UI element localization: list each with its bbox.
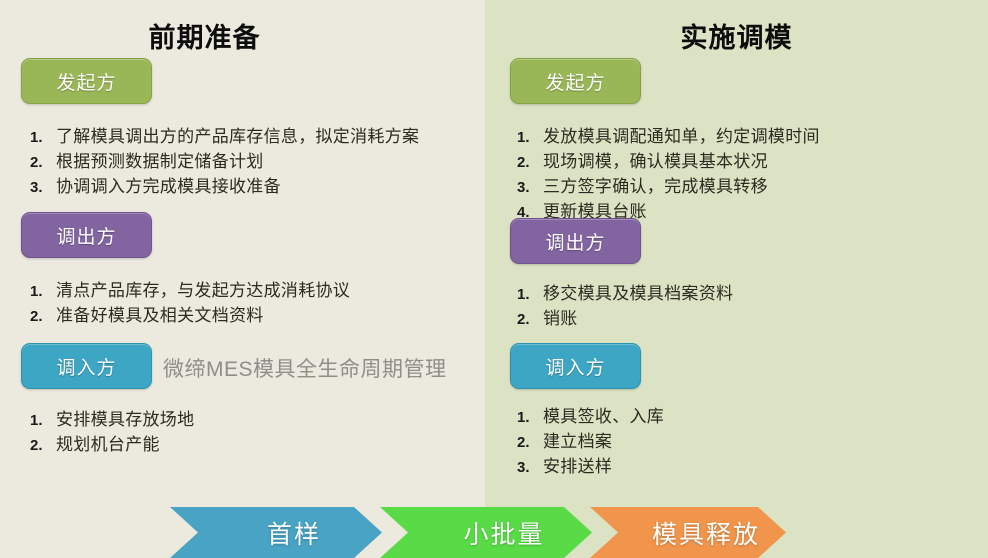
list-marker: 1. — [517, 409, 543, 426]
list-marker: 1. — [517, 129, 543, 146]
slide-canvas: 前期准备 发起方 1. 了解模具调出方的产品库存信息，拟定消耗方案 2. 根据预… — [0, 0, 988, 558]
tag-initiator-left[interactable]: 发起方 — [21, 58, 152, 104]
list-item: 2. 准备好模具及相关文档资料 — [30, 304, 350, 327]
list-marker: 2. — [30, 308, 56, 325]
list-marker: 2. — [30, 154, 56, 171]
list-marker: 3. — [517, 179, 543, 196]
tag-transfer-out-right-label: 调出方 — [545, 228, 605, 255]
chevron-step-first-sample-label: 首样 — [267, 515, 321, 551]
list-preparation-transfer-in: 1. 安排模具存放场地 2. 规划机台产能 — [30, 408, 194, 458]
chevron-step-small-batch[interactable]: 小批量 — [380, 507, 592, 558]
list-marker: 2. — [517, 434, 543, 451]
list-text: 安排送样 — [543, 455, 612, 478]
list-item: 2. 规划机台产能 — [30, 433, 194, 456]
list-marker: 1. — [30, 412, 56, 429]
list-implementation-transfer-out: 1. 移交模具及模具档案资料 2. 销账 — [517, 282, 733, 332]
list-marker: 3. — [517, 459, 543, 476]
list-text: 发放模具调配通知单，约定调模时间 — [543, 125, 820, 148]
list-text: 了解模具调出方的产品库存信息，拟定消耗方案 — [56, 125, 419, 148]
list-item: 1. 移交模具及模具档案资料 — [517, 282, 733, 305]
tag-initiator-right[interactable]: 发起方 — [510, 58, 641, 104]
list-marker: 3. — [30, 179, 56, 196]
list-marker: 1. — [517, 286, 543, 303]
list-text: 销账 — [543, 307, 578, 330]
list-text: 协调调入方完成模具接收准备 — [56, 175, 281, 198]
list-text: 现场调模，确认模具基本状况 — [543, 150, 768, 173]
list-item: 1. 了解模具调出方的产品库存信息，拟定消耗方案 — [30, 125, 419, 148]
chevron-step-first-sample[interactable]: 首样 — [170, 507, 382, 558]
list-item: 1. 安排模具存放场地 — [30, 408, 194, 431]
list-item: 1. 模具签收、入库 — [517, 405, 664, 428]
tag-transfer-out-left-label: 调出方 — [56, 222, 116, 249]
list-text: 规划机台产能 — [56, 433, 160, 456]
column-title-right: 实施调模 — [485, 16, 988, 55]
list-text: 模具签收、入库 — [543, 405, 664, 428]
tag-transfer-in-left[interactable]: 调入方 — [21, 343, 152, 389]
list-preparation-initiator: 1. 了解模具调出方的产品库存信息，拟定消耗方案 2. 根据预测数据制定储备计划… — [30, 125, 419, 200]
list-item: 2. 建立档案 — [517, 430, 664, 453]
list-text: 安排模具存放场地 — [56, 408, 194, 431]
tag-transfer-in-left-label: 调入方 — [56, 353, 116, 380]
chevron-step-small-batch-label: 小批量 — [463, 515, 544, 551]
list-item: 2. 现场调模，确认模具基本状况 — [517, 150, 820, 173]
list-marker: 2. — [30, 437, 56, 454]
list-text: 清点产品库存，与发起方达成消耗协议 — [56, 279, 350, 302]
list-preparation-transfer-out: 1. 清点产品库存，与发起方达成消耗协议 2. 准备好模具及相关文档资料 — [30, 279, 350, 329]
list-item: 1. 清点产品库存，与发起方达成消耗协议 — [30, 279, 350, 302]
tag-initiator-right-label: 发起方 — [545, 68, 605, 95]
process-chevron-strip: 首样 小批量 模具释放 — [0, 500, 988, 558]
chevron-step-mold-release-label: 模具释放 — [652, 515, 760, 551]
list-text: 移交模具及模具档案资料 — [543, 282, 733, 305]
tag-transfer-out-left[interactable]: 调出方 — [21, 212, 152, 258]
list-item: 2. 销账 — [517, 307, 733, 330]
watermark-text: 微缔MES模具全生命周期管理 — [163, 353, 447, 383]
list-text: 建立档案 — [543, 430, 612, 453]
tag-transfer-in-right[interactable]: 调入方 — [510, 343, 641, 389]
column-implementation: 实施调模 发起方 1. 发放模具调配通知单，约定调模时间 2. 现场调模，确认模… — [485, 0, 988, 500]
column-title-left: 前期准备 — [0, 16, 447, 55]
list-text: 三方签字确认，完成模具转移 — [543, 175, 768, 198]
list-text: 根据预测数据制定储备计划 — [56, 150, 264, 173]
list-marker: 1. — [30, 129, 56, 146]
list-marker: 2. — [517, 154, 543, 171]
list-marker: 1. — [30, 283, 56, 300]
tag-initiator-left-label: 发起方 — [56, 68, 116, 95]
list-item: 3. 协调调入方完成模具接收准备 — [30, 175, 419, 198]
list-item: 3. 安排送样 — [517, 455, 664, 478]
list-item: 2. 根据预测数据制定储备计划 — [30, 150, 419, 173]
list-text: 准备好模具及相关文档资料 — [56, 304, 264, 327]
list-implementation-transfer-in: 1. 模具签收、入库 2. 建立档案 3. 安排送样 — [517, 405, 664, 480]
tag-transfer-in-right-label: 调入方 — [545, 353, 605, 380]
list-item: 1. 发放模具调配通知单，约定调模时间 — [517, 125, 820, 148]
list-marker: 2. — [517, 311, 543, 328]
column-preparation: 前期准备 发起方 1. 了解模具调出方的产品库存信息，拟定消耗方案 2. 根据预… — [0, 0, 485, 500]
chevron-step-mold-release[interactable]: 模具释放 — [590, 507, 786, 558]
tag-transfer-out-right[interactable]: 调出方 — [510, 218, 641, 264]
list-implementation-initiator: 1. 发放模具调配通知单，约定调模时间 2. 现场调模，确认模具基本状况 3. … — [517, 125, 820, 225]
list-item: 3. 三方签字确认，完成模具转移 — [517, 175, 820, 198]
